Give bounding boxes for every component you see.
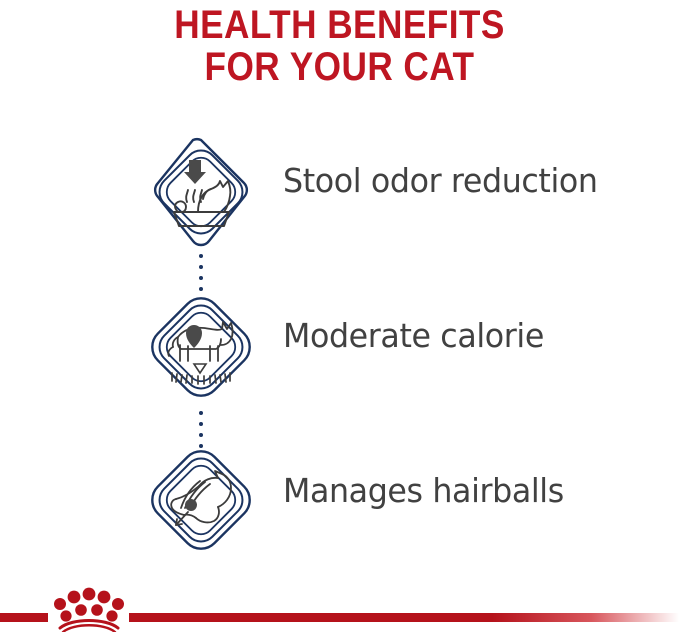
connector-dot [199,276,203,280]
benefit-item-moderate-calorie: Moderate calorie [0,283,679,438]
connector-dot [199,265,203,269]
connector-dots-1 [199,254,203,298]
title-line-2: FOR YOUR CAT [41,46,639,88]
cat-litter-box-odor-icon [148,134,254,252]
connector-dot [199,254,203,258]
connector-dot [199,444,203,448]
footer-bar-right-segment [129,613,679,622]
royal-canin-crown-logo [48,586,130,632]
cat-hairball-icon [148,442,254,560]
connector-dot [199,433,203,437]
benefit-label: Manages hairballs [283,472,564,510]
cat-on-scale-icon [148,289,254,407]
benefit-label: Stool odor reduction [283,162,598,200]
connector-dot [199,411,203,415]
title-line-1: HEALTH BENEFITS [41,4,639,46]
connector-dots-2 [199,411,203,455]
benefit-label: Moderate calorie [283,317,544,355]
footer-brand-bar [0,575,679,641]
connector-dot [199,422,203,426]
benefit-item-hairballs: Manages hairballs [0,438,679,593]
benefits-list: Stool odor reduction [0,128,679,593]
footer-bar-left-segment [0,613,48,622]
connector-dot [199,287,203,291]
benefit-item-stool-odor: Stool odor reduction [0,128,679,283]
page-title: HEALTH BENEFITS FOR YOUR CAT [0,0,679,88]
